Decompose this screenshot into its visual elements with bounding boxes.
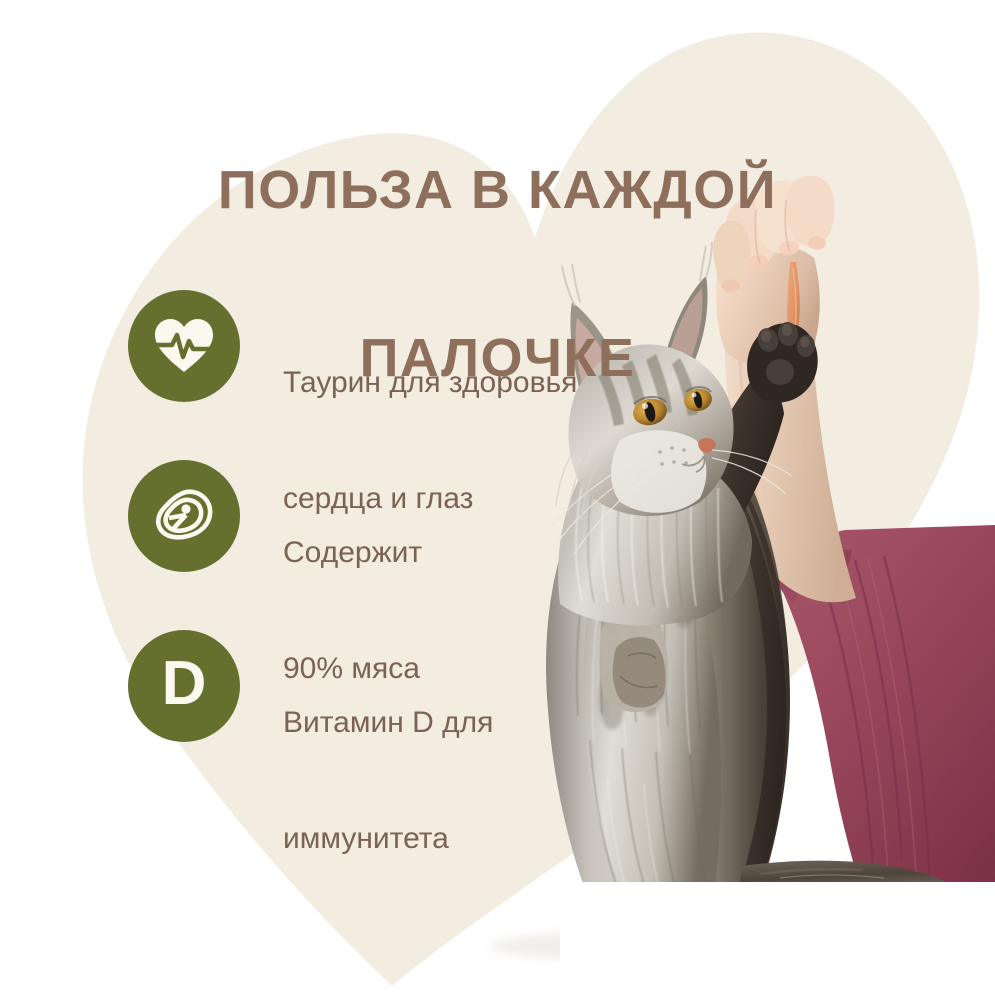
feature-item-meat: Содержит 90% мяса <box>128 460 648 630</box>
title-line-1: ПОЛЬЗА В КАЖДОЙ <box>0 148 995 232</box>
feature-list: Таурин для здоровья сердца и глаз Сод <box>128 290 648 800</box>
feature-vitamind-line2: иммунитета <box>283 822 449 855</box>
feature-item-taurine: Таурин для здоровья сердца и глаз <box>128 290 648 460</box>
heart-pulse-icon <box>128 290 240 402</box>
meat-steak-icon <box>128 460 240 572</box>
vitamin-d-letter: D <box>162 653 207 715</box>
feature-vitamind-line1: Витамин D для <box>283 706 493 739</box>
feature-meat-line1: Содержит <box>283 536 422 569</box>
feature-taurine-line1: Таурин для здоровья <box>283 366 577 399</box>
promo-banner: ПОЛЬЗА В КАЖДОЙ ПАЛОЧКЕ Таурин для здоро… <box>0 0 995 1000</box>
white-floor-plate <box>560 882 995 1000</box>
feature-text-vitamin-d: Витамин D для иммунитета <box>283 636 683 868</box>
vitamin-d-letter-icon: D <box>128 630 240 742</box>
feature-item-vitamin-d: D Витамин D для иммунитета <box>128 630 648 800</box>
